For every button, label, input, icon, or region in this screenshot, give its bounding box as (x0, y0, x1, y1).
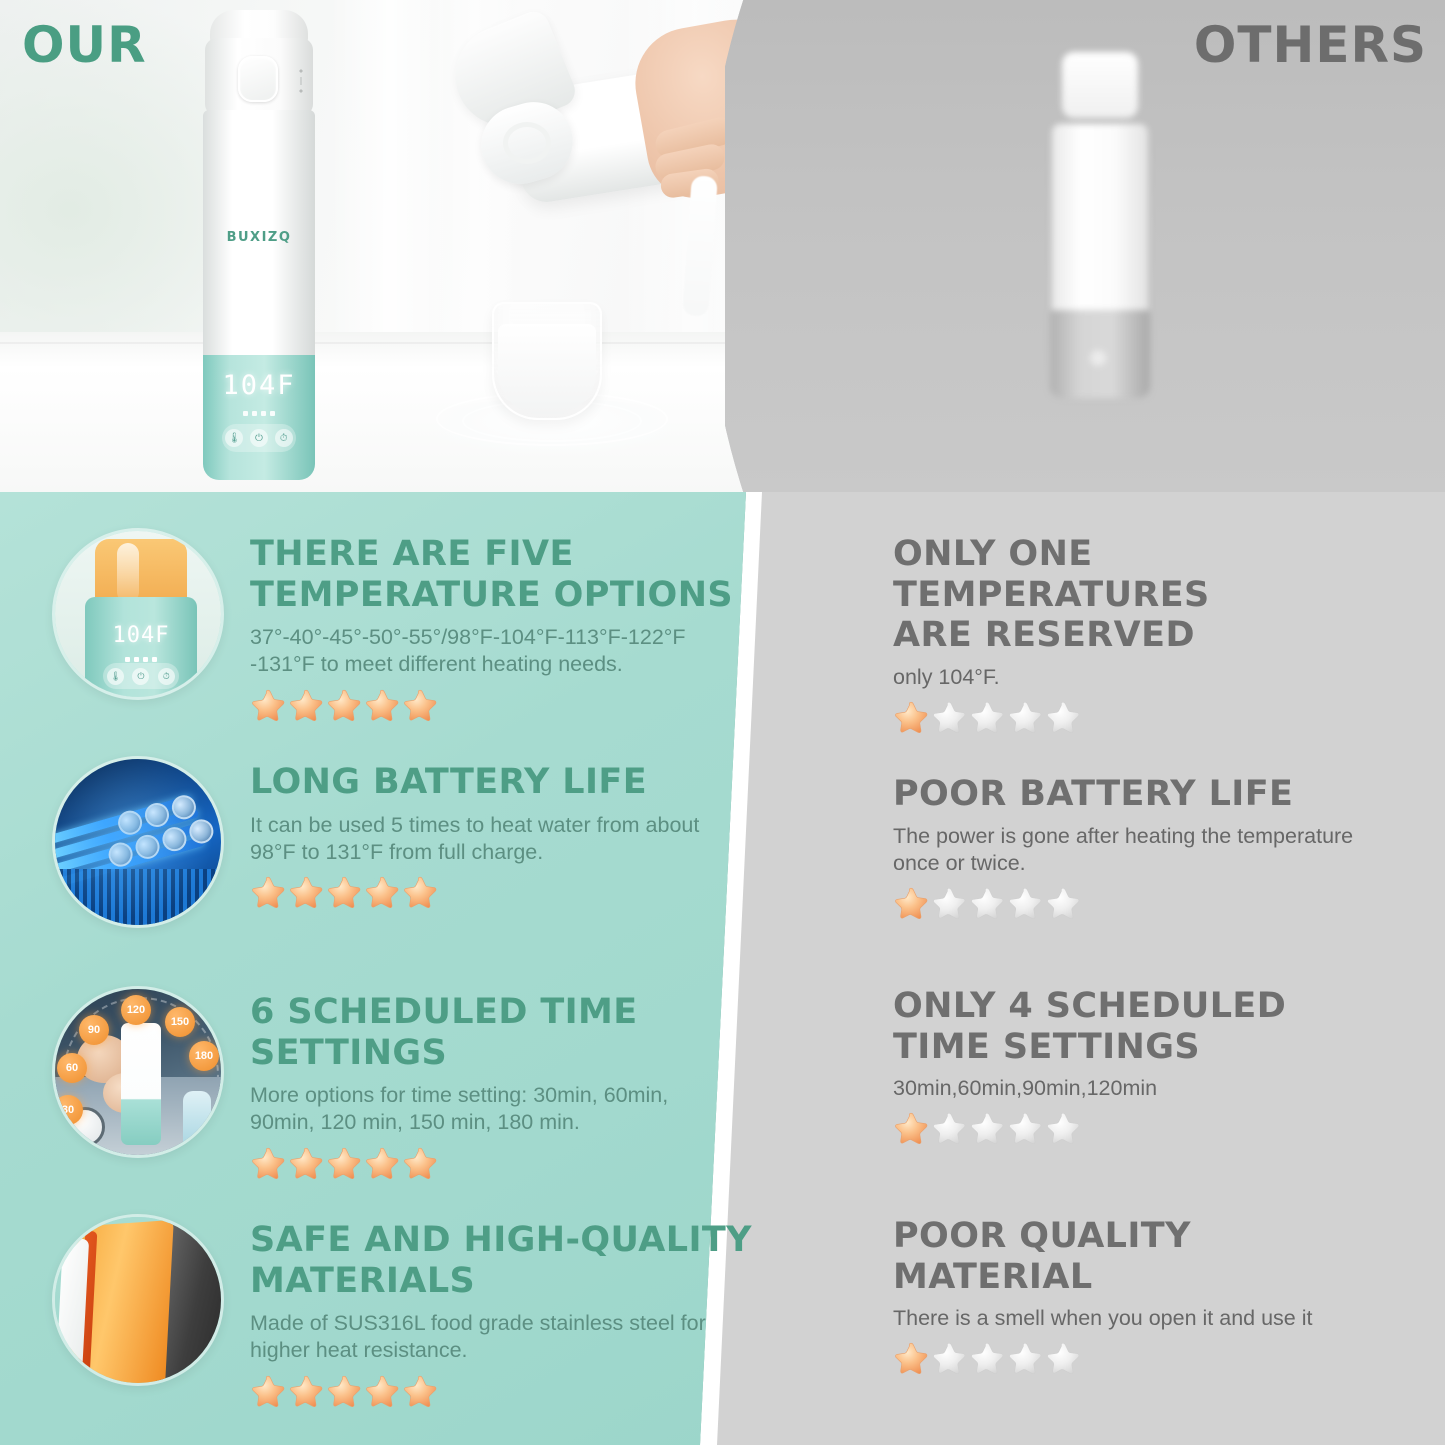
bottle-warmer-icon: 104F 🌡 ⏻ ⏱ (52, 528, 224, 700)
other-feature-2-title: POOR BATTERY LIFE (893, 774, 1393, 815)
time-badge: 90 (79, 1015, 109, 1045)
time-badge: 30 (53, 1095, 83, 1125)
time-badge: 60 (57, 1053, 87, 1083)
our-feature-2-rating (250, 875, 725, 909)
other-feature-1-rating (893, 700, 1393, 734)
star-icon (288, 1146, 324, 1180)
other-feature-1-description: only 104°F. (893, 664, 1393, 691)
our-feature-1-title: THERE ARE FIVE TEMPERATURE OPTIONS (250, 534, 733, 615)
star-icon (326, 875, 362, 909)
hero-section: BUXIZQ 104F 🌡 ⏻ ⏱ (0, 0, 1445, 492)
temperature-display: 104F (196, 370, 322, 401)
comparison-infographic: BUXIZQ 104F 🌡 ⏻ ⏱ (0, 0, 1445, 1445)
time-badge: 180 (189, 1041, 219, 1071)
star-icon (1045, 886, 1081, 920)
competitor-bottle-button (1090, 350, 1106, 366)
star-icon (931, 1111, 967, 1145)
power-icon: ⏻ (132, 668, 149, 685)
comparison-section: 104F 🌡 ⏻ ⏱ THERE ARE FIVE TEMPERATURE OP… (0, 492, 1445, 1445)
star-icon (326, 1374, 362, 1408)
star-icon (250, 688, 286, 722)
star-icon (893, 1341, 929, 1375)
other-feature-4: POOR QUALITY MATERIAL There is a smell w… (893, 1216, 1393, 1375)
star-icon (364, 1374, 400, 1408)
our-feature-2-title: LONG BATTERY LIFE (250, 762, 725, 803)
competitor-bottle (1040, 52, 1160, 402)
our-feature-1-rating (250, 688, 733, 722)
competitor-bottle-cap (1062, 52, 1138, 118)
our-feature-4-rating (250, 1374, 752, 1408)
other-feature-4-rating (893, 1341, 1393, 1375)
other-feature-2-rating (893, 886, 1393, 920)
our-feature-3: 30 60 90 120 150 180 6 SCHEDULED TIME SE… (52, 986, 725, 1180)
star-icon (402, 1146, 438, 1180)
star-icon (288, 875, 324, 909)
product-bottle: BUXIZQ 104F 🌡 ⏻ ⏱ (196, 10, 322, 480)
power-icon: ⏻ (250, 429, 268, 447)
other-feature-1-title: ONLY ONE TEMPERATURES ARE RESERVED (893, 534, 1393, 656)
other-feature-4-description: There is a smell when you open it and us… (893, 1305, 1393, 1332)
star-icon (1007, 886, 1043, 920)
time-badge: 120 (121, 995, 151, 1025)
thermometer-icon: 🌡 (107, 668, 124, 685)
bottle-lid-button (238, 56, 278, 102)
other-feature-3-description: 30min,60min,90min,120min (893, 1075, 1393, 1102)
star-icon (250, 1146, 286, 1180)
star-icon (1045, 700, 1081, 734)
star-icon (250, 875, 286, 909)
icon-temperature-display: 104F (85, 623, 197, 648)
star-icon (969, 886, 1005, 920)
our-feature-2-description: It can be used 5 times to heat water fro… (250, 812, 725, 867)
our-feature-4-description: Made of SUS316L food grade stainless ste… (250, 1310, 725, 1365)
our-title: OUR (22, 16, 147, 74)
star-icon (1045, 1341, 1081, 1375)
control-buttons: 🌡 ⏻ ⏱ (222, 424, 296, 452)
night-feeding-icon: 30 60 90 120 150 180 (52, 986, 224, 1158)
others-title: OTHERS (1194, 16, 1427, 74)
star-icon (969, 700, 1005, 734)
our-feature-3-title: 6 SCHEDULED TIME SETTINGS (250, 992, 725, 1073)
other-feature-2: POOR BATTERY LIFE The power is gone afte… (893, 774, 1393, 920)
star-icon (893, 1111, 929, 1145)
our-feature-4: SAFE AND HIGH-QUALITY MATERIALS Made of … (52, 1214, 752, 1408)
other-feature-1: ONLY ONE TEMPERATURES ARE RESERVED only … (893, 534, 1393, 734)
star-icon (1007, 1111, 1043, 1145)
our-feature-2: LONG BATTERY LIFE It can be used 5 times… (52, 756, 725, 928)
star-icon (364, 875, 400, 909)
other-feature-3-rating (893, 1111, 1393, 1145)
star-icon (326, 688, 362, 722)
our-feature-4-title: SAFE AND HIGH-QUALITY MATERIALS (250, 1220, 752, 1301)
other-feature-3: ONLY 4 SCHEDULED TIME SETTINGS 30min,60m… (893, 986, 1393, 1145)
star-icon (1007, 700, 1043, 734)
milk-fill (498, 324, 596, 414)
star-icon (969, 1111, 1005, 1145)
star-icon (288, 1374, 324, 1408)
star-icon (364, 688, 400, 722)
star-icon (931, 700, 967, 734)
our-feature-3-rating (250, 1146, 725, 1180)
lid-ring (503, 122, 551, 164)
other-feature-4-title: POOR QUALITY MATERIAL (893, 1216, 1393, 1297)
star-icon (402, 1374, 438, 1408)
star-icon (1007, 1341, 1043, 1375)
our-feature-3-description: More options for time setting: 30min, 60… (250, 1082, 725, 1137)
baby-bottle-icon (183, 1091, 211, 1147)
timer-icon: ⏱ (275, 429, 293, 447)
lock-icon (296, 66, 306, 96)
battery-cells-icon (52, 756, 224, 928)
star-icon (364, 1146, 400, 1180)
other-feature-2-description: The power is gone after heating the temp… (893, 823, 1393, 878)
star-icon (893, 886, 929, 920)
timer-icon: ⏱ (158, 668, 175, 685)
time-badge: 150 (165, 1007, 195, 1037)
star-icon (931, 1341, 967, 1375)
star-icon (250, 1374, 286, 1408)
brand-label: BUXIZQ (196, 230, 322, 245)
star-icon (1045, 1111, 1081, 1145)
display-indicator-dots (196, 403, 322, 421)
competitor-bottle-body (1052, 124, 1148, 314)
star-icon (288, 688, 324, 722)
star-icon (402, 688, 438, 722)
star-icon (326, 1146, 362, 1180)
our-feature-1-description: 37°-40°-45°-50°-55°/98°F-104°F-113°F-122… (250, 624, 725, 679)
star-icon (893, 700, 929, 734)
star-icon (402, 875, 438, 909)
material-layers-icon (52, 1214, 224, 1386)
milk-glass (492, 302, 602, 420)
thermometer-icon: 🌡 (225, 429, 243, 447)
star-icon (931, 886, 967, 920)
star-icon (969, 1341, 1005, 1375)
other-feature-3-title: ONLY 4 SCHEDULED TIME SETTINGS (893, 986, 1393, 1067)
our-feature-1: 104F 🌡 ⏻ ⏱ THERE ARE FIVE TEMPERATURE OP… (52, 528, 733, 722)
